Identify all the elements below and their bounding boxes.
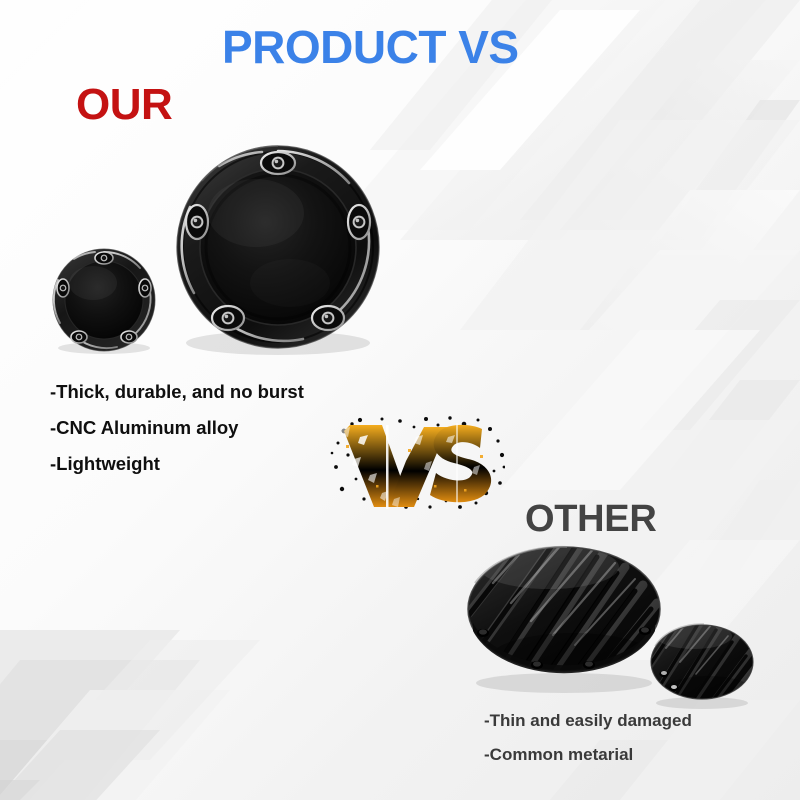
page-title: PRODUCT VS bbox=[222, 20, 519, 74]
other-feature-list: -Thin and easily damaged -Common metaria… bbox=[484, 704, 784, 772]
our-feature-item: -Thick, durable, and no burst bbox=[50, 374, 410, 410]
other-small-product-image bbox=[648, 618, 756, 710]
other-large-product-image bbox=[463, 537, 665, 695]
versus-badge bbox=[330, 415, 505, 510]
infographic-canvas: PRODUCT VS OUR bbox=[0, 0, 800, 800]
other-feature-item: -Thin and easily damaged bbox=[484, 704, 784, 738]
our-small-product-image bbox=[50, 247, 158, 355]
our-heading: OUR bbox=[76, 80, 172, 130]
other-feature-item: -Common metarial bbox=[484, 738, 784, 772]
other-heading: OTHER bbox=[525, 498, 657, 541]
our-large-product-image bbox=[172, 143, 384, 355]
